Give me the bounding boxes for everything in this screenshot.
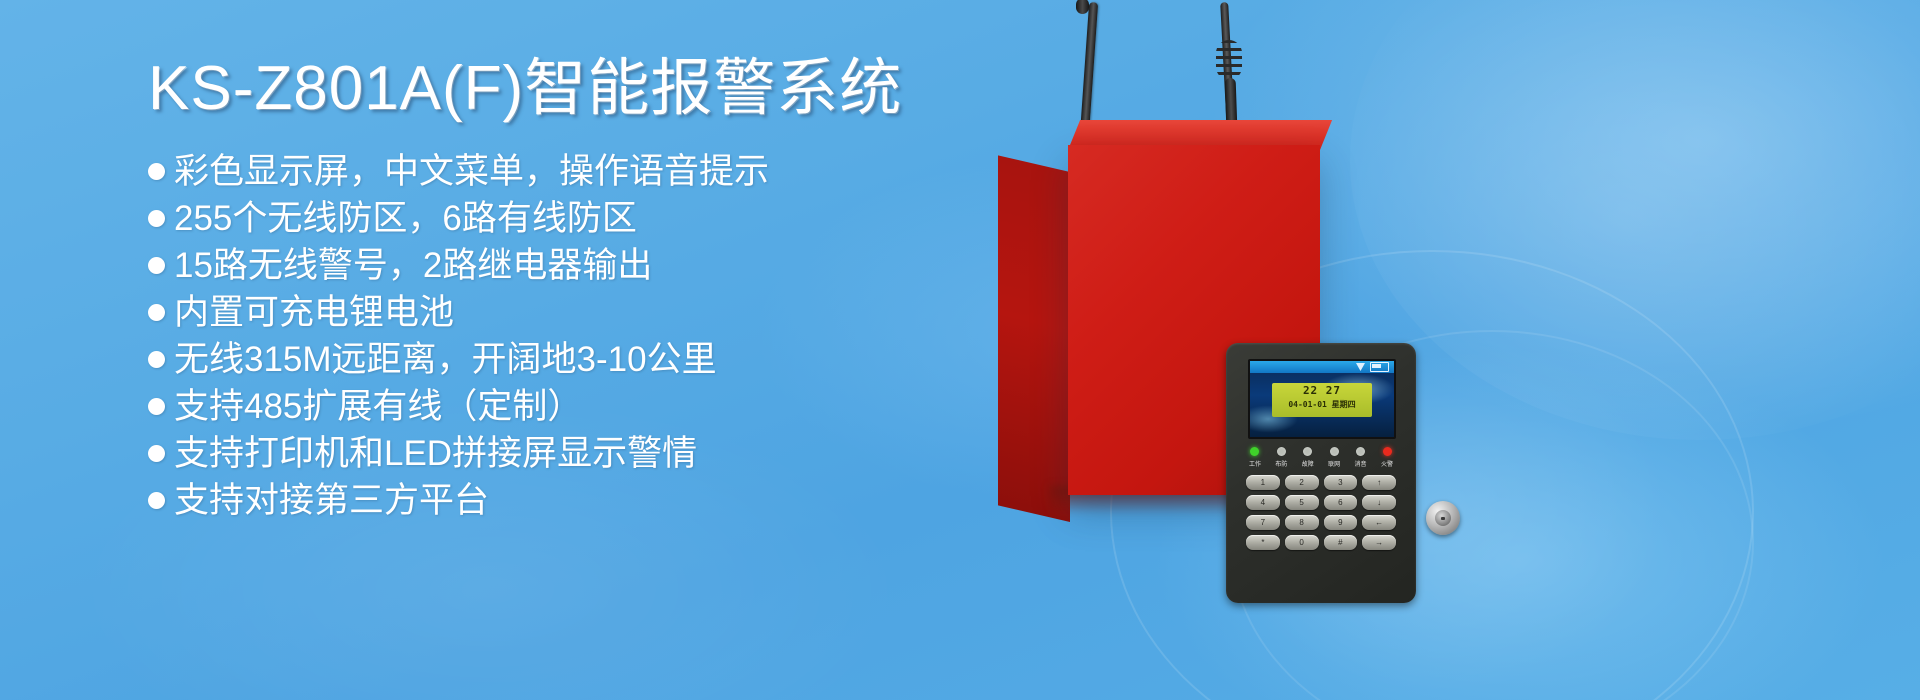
- copy-block: KS-Z801A(F)智能报警系统 彩色显示屏，中文菜单，操作语音提示 255个…: [148, 52, 988, 524]
- status-led-mute: [1356, 447, 1365, 456]
- list-item: 彩色显示屏，中文菜单，操作语音提示: [148, 148, 988, 195]
- keypad-key[interactable]: #: [1324, 535, 1358, 550]
- lcd-clock-panel: 22 27 04-01-01 星期四: [1272, 383, 1372, 417]
- list-item-label: 支持485扩展有线（定制）: [174, 383, 582, 430]
- led-label: 火警: [1378, 459, 1396, 468]
- signal-triangle-icon: [1356, 363, 1365, 371]
- keypad-key[interactable]: 2: [1285, 475, 1319, 490]
- led-label: 联网: [1325, 459, 1343, 468]
- keypad-key[interactable]: ↓: [1362, 495, 1396, 510]
- list-item-label: 255个无线防区，6路有线防区: [174, 195, 637, 242]
- keypad-key[interactable]: 6: [1324, 495, 1358, 510]
- keypad-key[interactable]: ←: [1362, 515, 1396, 530]
- keypad-key[interactable]: 1: [1246, 475, 1280, 490]
- keypad-key[interactable]: 0: [1285, 535, 1319, 550]
- list-item: 255个无线防区，6路有线防区: [148, 195, 988, 242]
- status-led-arm: [1277, 447, 1286, 456]
- enclosure-front-face: 22 27 04-01-01 星期四 工作 布防 故障 联网: [1068, 145, 1320, 495]
- status-led-labels: 工作 布防 故障 联网 消音 火警: [1246, 459, 1396, 468]
- lcd-screen: 22 27 04-01-01 星期四: [1248, 359, 1396, 439]
- bullet-dot-icon: [148, 257, 165, 274]
- key-lock-icon[interactable]: [1426, 501, 1460, 535]
- status-led-fire-alarm: [1383, 447, 1392, 456]
- list-item: 支持对接第三方平台: [148, 477, 988, 524]
- keypad-key[interactable]: *: [1246, 535, 1280, 550]
- battery-icon: [1370, 362, 1389, 372]
- bullet-dot-icon: [148, 163, 165, 180]
- keypad-key[interactable]: 9: [1324, 515, 1358, 530]
- bullet-dot-icon: [148, 304, 165, 321]
- control-faceplate: 22 27 04-01-01 星期四 工作 布防 故障 联网: [1226, 343, 1416, 603]
- list-item: 支持485扩展有线（定制）: [148, 383, 988, 430]
- bullet-dot-icon: [148, 351, 165, 368]
- keypad-key[interactable]: →: [1362, 535, 1396, 550]
- bullet-dot-icon: [148, 445, 165, 462]
- keypad-key[interactable]: 8: [1285, 515, 1319, 530]
- status-led-fault: [1303, 447, 1312, 456]
- list-item-label: 15路无线警号，2路继电器输出: [174, 242, 652, 289]
- lock-keyhole: [1441, 517, 1445, 520]
- feature-list: 彩色显示屏，中文菜单，操作语音提示 255个无线防区，6路有线防区 15路无线警…: [148, 148, 988, 524]
- bullet-dot-icon: [148, 398, 165, 415]
- bullet-dot-icon: [148, 210, 165, 227]
- keypad-key[interactable]: 4: [1246, 495, 1280, 510]
- keypad-key[interactable]: 3: [1324, 475, 1358, 490]
- status-led-network: [1330, 447, 1339, 456]
- bullet-dot-icon: [148, 492, 165, 509]
- list-item-label: 无线315M远距离，开阔地3-10公里: [174, 336, 717, 383]
- keypad-key[interactable]: ↑: [1362, 475, 1396, 490]
- list-item: 内置可充电锂电池: [148, 289, 988, 336]
- led-label: 布防: [1272, 459, 1290, 468]
- page-title: KS-Z801A(F)智能报警系统: [148, 52, 988, 126]
- keypad-key[interactable]: 7: [1246, 515, 1280, 530]
- list-item-label: 内置可充电锂电池: [174, 289, 454, 336]
- status-led-work: [1250, 447, 1259, 456]
- left-antenna-tip: [1076, 0, 1089, 14]
- promo-banner: KS-Z801A(F)智能报警系统 彩色显示屏，中文菜单，操作语音提示 255个…: [0, 0, 1920, 700]
- led-label: 消音: [1352, 459, 1370, 468]
- led-label: 故障: [1299, 459, 1317, 468]
- lcd-statusbar: [1250, 361, 1394, 373]
- lock-cylinder: [1435, 510, 1451, 526]
- alarm-panel-device: 22 27 04-01-01 星期四 工作 布防 故障 联网: [930, 0, 1450, 700]
- lcd-date: 04-01-01 星期四: [1272, 399, 1372, 411]
- led-label: 工作: [1246, 459, 1264, 468]
- lcd-time: 22 27: [1272, 383, 1372, 399]
- right-coil-antenna: [1216, 40, 1242, 80]
- list-item-label: 支持对接第三方平台: [174, 477, 489, 524]
- numeric-keypad[interactable]: 1 2 3 ↑ 4 5 6 ↓ 7 8 9 ← * 0 # →: [1246, 475, 1396, 550]
- list-item-label: 支持打印机和LED拼接屏显示警情: [174, 430, 697, 477]
- keypad-key[interactable]: 5: [1285, 495, 1319, 510]
- status-led-row: [1250, 447, 1392, 456]
- list-item: 15路无线警号，2路继电器输出: [148, 242, 988, 289]
- enclosure-side-face: [998, 155, 1070, 522]
- list-item-label: 彩色显示屏，中文菜单，操作语音提示: [174, 148, 769, 195]
- list-item: 无线315M远距离，开阔地3-10公里: [148, 336, 988, 383]
- list-item: 支持打印机和LED拼接屏显示警情: [148, 430, 988, 477]
